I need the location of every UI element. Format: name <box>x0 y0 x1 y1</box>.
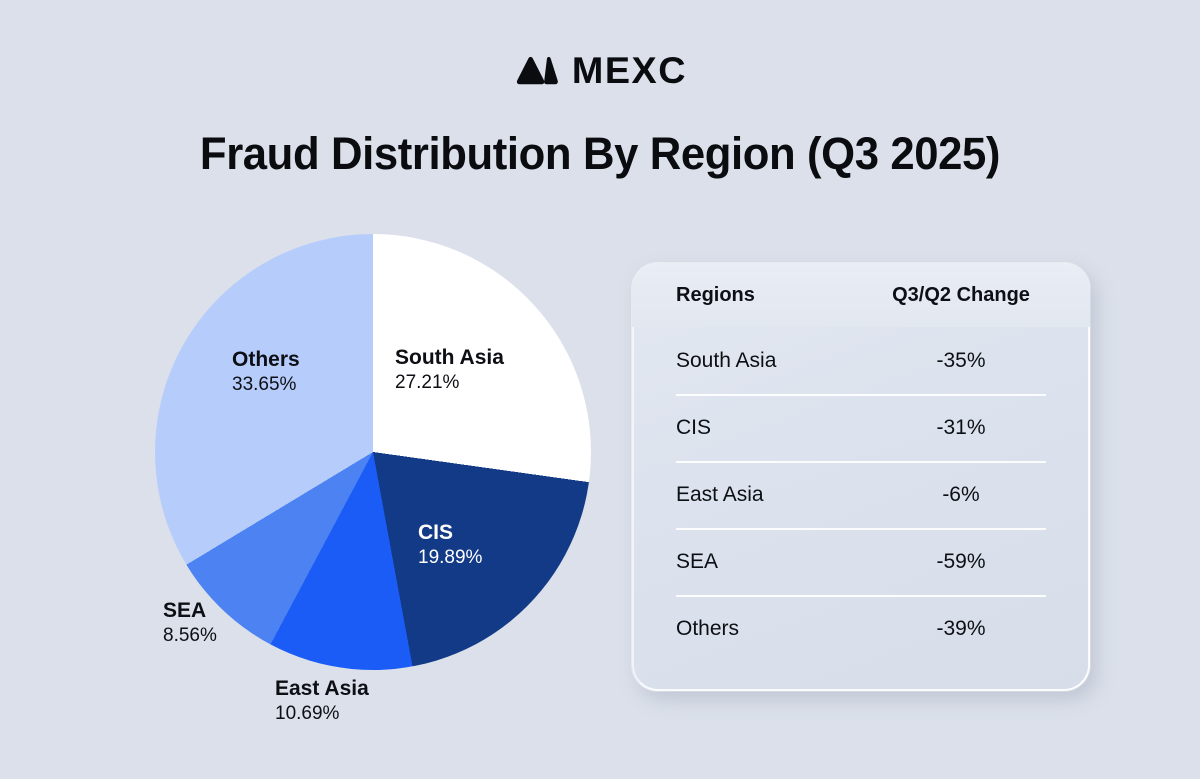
table-header-regions: Regions <box>676 284 876 307</box>
pie-graphic <box>155 234 591 670</box>
pie-label-sea-name: SEA <box>163 598 217 624</box>
table-row: SEA-59% <box>676 528 1046 595</box>
table-row: East Asia-6% <box>676 461 1046 528</box>
table-cell-region: Others <box>676 617 876 641</box>
table-cell-change: -39% <box>876 617 1046 641</box>
regions-change-card: Regions Q3/Q2 Change South Asia-35%CIS-3… <box>632 263 1090 691</box>
pie-label-cis-name: CIS <box>418 520 482 546</box>
table-cell-region: South Asia <box>676 349 876 373</box>
pie-label-cis-value: 19.89% <box>418 546 482 569</box>
pie-label-others-value: 33.65% <box>232 373 300 396</box>
pie-chart: South Asia 27.21% Others 33.65% CIS 19.8… <box>155 234 591 670</box>
pie-label-south-asia-name: South Asia <box>395 345 504 371</box>
table-row: Others-39% <box>676 595 1046 662</box>
brand-logo: MEXC <box>0 52 1200 89</box>
pie-label-east-asia: East Asia 10.69% <box>275 676 369 726</box>
table-body: South Asia-35%CIS-31%East Asia-6%SEA-59%… <box>632 327 1090 662</box>
table-row: CIS-31% <box>676 394 1046 461</box>
table-row: South Asia-35% <box>676 327 1046 394</box>
pie-label-others-name: Others <box>232 347 300 373</box>
brand-wordmark: MEXC <box>571 52 686 89</box>
table-header-row: Regions Q3/Q2 Change <box>632 263 1090 327</box>
mexc-triangles-icon <box>515 56 559 86</box>
table-cell-region: East Asia <box>676 483 876 507</box>
pie-label-others: Others 33.65% <box>232 347 300 396</box>
pie-label-south-asia: South Asia 27.21% <box>395 345 504 394</box>
table-cell-region: CIS <box>676 416 876 440</box>
table-cell-change: -6% <box>876 483 1046 507</box>
pie-label-sea-value: 8.56% <box>163 624 217 648</box>
table-cell-change: -35% <box>876 349 1046 373</box>
table-cell-change: -59% <box>876 550 1046 574</box>
page-title: Fraud Distribution By Region (Q3 2025) <box>18 128 1182 180</box>
table-header-change: Q3/Q2 Change <box>876 284 1046 307</box>
table-cell-region: SEA <box>676 550 876 574</box>
table-cell-change: -31% <box>876 416 1046 440</box>
pie-label-east-asia-name: East Asia <box>275 676 369 702</box>
pie-label-east-asia-value: 10.69% <box>275 702 369 726</box>
pie-label-south-asia-value: 27.21% <box>395 371 504 394</box>
pie-label-sea: SEA 8.56% <box>163 598 217 648</box>
pie-label-cis: CIS 19.89% <box>418 520 482 569</box>
